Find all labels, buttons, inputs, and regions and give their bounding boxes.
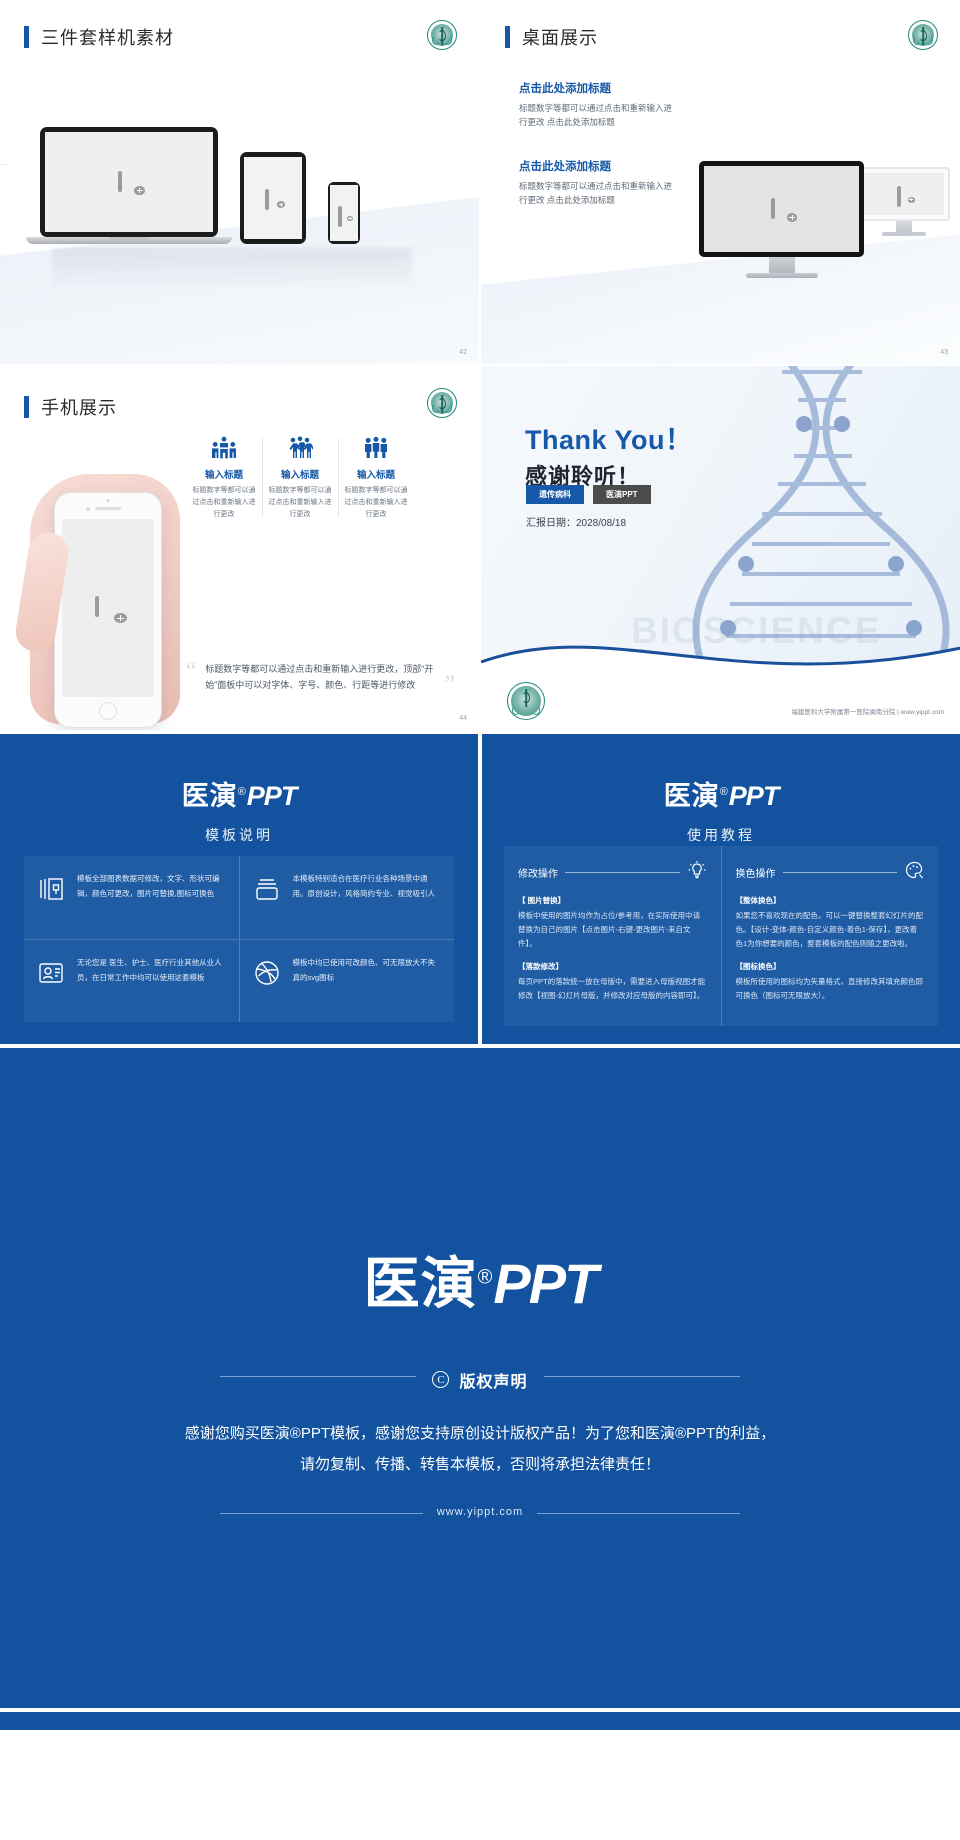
text-block-1-body: 标题数字等都可以通过点击和重新输入进行更改 点击此处添加标题 bbox=[519, 101, 679, 129]
brand-cn: 医演 bbox=[664, 781, 720, 811]
device-mockup-row bbox=[40, 127, 360, 244]
box-stack-icon bbox=[252, 872, 282, 923]
text-block-1-heading: 点击此处添加标题 bbox=[519, 80, 679, 96]
description-card-2-text: 本模板特别适合在医疗行业各种场景中通用。原创设计，风格简约专业、视觉吸引人 bbox=[293, 872, 443, 923]
tutorial-edit-text-1: 模板中使用的图片均作为占位/参考用，在实际使用中请替换为自己的图片【点击图片-右… bbox=[518, 909, 707, 951]
website-url[interactable]: www.yippt.com bbox=[423, 1506, 537, 1518]
university-crest-icon bbox=[908, 20, 938, 50]
section-subtitle: 模板说明 bbox=[0, 825, 478, 845]
header-rule bbox=[565, 872, 680, 873]
university-crest-icon bbox=[427, 388, 457, 418]
hand-holding-phone-photo bbox=[20, 454, 200, 724]
image-add-placeholder-icon bbox=[118, 173, 140, 191]
feature-1-heading: 输入标题 bbox=[191, 467, 257, 481]
feature-2-heading: 输入标题 bbox=[267, 467, 333, 481]
description-card-3-text: 无论您是 医生、护士、医疗行业其他从业人员，在日常工作中均可以使用这套模板 bbox=[77, 956, 227, 1006]
university-crest-icon bbox=[427, 20, 457, 50]
description-card-2[interactable]: 本模板特别适合在医疗行业各种场景中通用。原创设计，风格简约专业、视觉吸引人 bbox=[239, 856, 455, 939]
tag-brand[interactable]: 医演PPT bbox=[593, 485, 651, 504]
slide-44-title: 手机展示 bbox=[24, 394, 117, 420]
feature-item-1[interactable]: 输入标题 标题数字等都可以通过点击和重新输入进行更改 bbox=[186, 434, 262, 521]
slide-copyright-notice[interactable]: 医演®PPT C 版权声明 感谢您购买医演®PPT模板，感谢您支持原创设计版权产… bbox=[0, 1048, 960, 1708]
institution-footer: 福建医科大学附属第一医院闽南分院 | www.yippt.com bbox=[791, 706, 944, 716]
slide-43-title-text: 桌面展示 bbox=[522, 24, 598, 50]
description-card-4[interactable]: 模板中均已使用可改颜色、可无限放大不失真的svg图标 bbox=[239, 940, 455, 1022]
brand-header: 医演®PPT 使用教程 bbox=[482, 734, 960, 845]
card-row-1: 模板全部图表数据可修改，文字、形状可编辑，颜色可更改，图片可替换,图标可换色 本… bbox=[24, 856, 454, 939]
feature-item-2[interactable]: 输入标题 标题数字等都可以通过点击和重新输入进行更改 bbox=[262, 434, 338, 521]
copyright-paragraph: 感谢您购买医演®PPT模板，感谢您支持原创设计版权产品！为了您和医演®PPT的利… bbox=[180, 1418, 780, 1481]
image-add-placeholder-icon bbox=[265, 191, 282, 205]
tutorial-recolor-heading: 换色操作 bbox=[736, 865, 776, 880]
primary-monitor-mockup[interactable] bbox=[699, 161, 864, 278]
tutorial-edit-heading: 修改操作 bbox=[518, 865, 558, 880]
copyright-mark-icon: C bbox=[432, 1371, 449, 1388]
secondary-monitor-mockup[interactable] bbox=[858, 167, 950, 236]
text-block-2-heading: 点击此处添加标题 bbox=[519, 158, 679, 174]
description-card-4-text: 模板中均已使用可改颜色、可无限放大不失真的svg图标 bbox=[293, 956, 443, 1006]
quote-block: “ 标题数字等都可以通过点击和重新输入进行更改，顶部“开始”面板中可以对字体、字… bbox=[186, 661, 455, 694]
university-crest-icon bbox=[507, 682, 545, 720]
image-add-placeholder-icon bbox=[897, 188, 912, 200]
quote-text: 标题数字等都可以通过点击和重新输入进行更改，顶部“开始”面板中可以对字体、字号、… bbox=[205, 661, 436, 694]
id-card-icon bbox=[36, 956, 66, 1006]
description-card-1-text: 模板全部图表数据可修改，文字、形状可编辑，颜色可更改，图片可替换,图标可换色 bbox=[77, 872, 227, 923]
phone-mockup[interactable] bbox=[328, 182, 360, 244]
palette-icon bbox=[904, 860, 924, 885]
thank-you-en: Thank You！ bbox=[525, 418, 693, 457]
tutorial-edit-label-1: 【 图片替换】 bbox=[518, 895, 707, 906]
copyright-heading-group: C 版权声明 bbox=[416, 1368, 543, 1392]
feature-item-3[interactable]: 输入标题 标题数字等都可以通过点击和重新输入进行更改 bbox=[338, 434, 414, 521]
text-block-2-body: 标题数字等都可以通过点击和重新输入进行更改 点击此处添加标题 bbox=[519, 179, 679, 207]
tutorial-recolor-text-2: 模板所使用的图标均为矢量格式，直接修改其填充颜色即可换色（图标可无限放大）。 bbox=[736, 975, 925, 1003]
lightbulb-icon bbox=[687, 860, 707, 885]
quote-open-mark: “ bbox=[186, 661, 196, 694]
device-reflection bbox=[52, 248, 412, 290]
slide-row-1: 三件套样机素材 bbox=[0, 0, 960, 364]
card-row-2: 无论您是 医生、护士、医疗行业其他从业人员，在日常工作中均可以使用这套模板 模板… bbox=[24, 939, 454, 1022]
presentation-page: 三件套样机素材 bbox=[0, 0, 960, 1730]
copyright-heading: 版权声明 bbox=[459, 1368, 527, 1392]
blue-info-row: 医演®PPT 模板说明 模板全部图表数据可修改，文字、形状可编辑，颜色可更改，图… bbox=[0, 734, 960, 1044]
layers-book-icon bbox=[36, 872, 66, 923]
team-meeting-icon bbox=[191, 434, 257, 460]
dribbble-ball-icon bbox=[252, 956, 282, 1006]
tutorial-column-edit-header: 修改操作 bbox=[518, 860, 707, 885]
slide-44-page-number: 44 bbox=[459, 715, 467, 722]
brand-cn: 医演 bbox=[364, 1252, 478, 1315]
slide-template-description[interactable]: 医演®PPT 模板说明 模板全部图表数据可修改，文字、形状可编辑，颜色可更改，图… bbox=[0, 734, 478, 1044]
tutorial-edit-label-2: 【落款修改】 bbox=[518, 961, 707, 972]
slide-usage-tutorial[interactable]: 医演®PPT 使用教程 修改操作 【 图片 bbox=[482, 734, 960, 1044]
tutorial-recolor-label-1: 【整体换色】 bbox=[736, 895, 925, 906]
tutorial-recolor-text-1: 如果您不喜欢现在的配色，可以一键替换整套幻灯片的配色。【设计-变体-颜色-自定义… bbox=[736, 909, 925, 951]
title-accent-bar bbox=[24, 396, 29, 418]
tag-department[interactable]: 遗传病科 bbox=[526, 485, 584, 504]
brand-reg: ® bbox=[238, 786, 247, 798]
tutorial-column-recolor-header: 换色操作 bbox=[736, 860, 925, 885]
slide-45-thank-you[interactable]: BIOSCIENCE Thank You！ 感谢聆听！ 遗传病科 医演PPT 汇… bbox=[481, 366, 960, 730]
tutorial-column-recolor[interactable]: 换色操作 【整体换色】 如果您 bbox=[721, 846, 939, 1026]
slide-42-title: 三件套样机素材 bbox=[24, 24, 174, 50]
feature-1-body: 标题数字等都可以通过点击和重新输入进行更改 bbox=[191, 485, 257, 521]
description-card-1[interactable]: 模板全部图表数据可修改，文字、形状可编辑，颜色可更改，图片可替换,图标可换色 bbox=[24, 856, 239, 939]
title-accent-bar bbox=[24, 26, 29, 48]
image-add-placeholder-icon bbox=[771, 200, 793, 218]
tutorial-column-edit[interactable]: 修改操作 【 图片替换】 模板中使用的图片均作为占位/参考用，在实际使用中请替换… bbox=[504, 846, 721, 1026]
tutorial-recolor-label-2: 【图标换色】 bbox=[736, 961, 925, 972]
people-group-icon bbox=[267, 434, 333, 460]
slide-42-page-number: 42 bbox=[459, 349, 467, 356]
slide-42-three-device-mockups[interactable]: 三件套样机素材 bbox=[0, 0, 479, 364]
brand-logo: 医演®PPT bbox=[482, 774, 960, 813]
tutorial-columns: 修改操作 【 图片替换】 模板中使用的图片均作为占位/参考用，在实际使用中请替换… bbox=[504, 846, 938, 1026]
image-add-placeholder-icon bbox=[95, 598, 121, 619]
laptop-mockup[interactable] bbox=[40, 127, 218, 244]
report-date: 汇报日期：2028/08/18 bbox=[526, 514, 626, 529]
brand-reg: ® bbox=[478, 1266, 494, 1288]
slide-43-title: 桌面展示 bbox=[505, 24, 598, 50]
feature-2-body: 标题数字等都可以通过点击和重新输入进行更改 bbox=[267, 485, 333, 521]
feature-3-heading: 输入标题 bbox=[343, 467, 409, 481]
brand-logo-large: 医演®PPT bbox=[364, 1239, 597, 1320]
description-card-grid: 模板全部图表数据可修改，文字、形状可编辑，颜色可更改，图片可替换,图标可换色 本… bbox=[24, 856, 454, 1022]
bottom-spacer bbox=[0, 1712, 960, 1730]
slide-43-page-number: 43 bbox=[940, 349, 948, 356]
section-subtitle: 使用教程 bbox=[482, 825, 960, 845]
tablet-mockup[interactable] bbox=[240, 152, 306, 244]
title-accent-bar bbox=[505, 26, 510, 48]
slide-43-desktop-display[interactable]: 桌面展示 点击此处添加标题 标题数字等都可以通过点击和重新输入进行更改 点击此处… bbox=[481, 0, 960, 364]
slide-44-title-text: 手机展示 bbox=[41, 394, 117, 420]
feature-row: 输入标题 标题数字等都可以通过点击和重新输入进行更改 bbox=[186, 434, 414, 521]
brand-cn: 医演 bbox=[182, 781, 238, 811]
brand-ppt: PPT bbox=[247, 781, 297, 811]
slide-row-2: 手机展示 bbox=[0, 366, 960, 730]
feature-3-body: 标题数字等都可以通过点击和重新输入进行更改 bbox=[343, 485, 409, 521]
brand-ppt: PPT bbox=[729, 781, 779, 811]
brand-reg: ® bbox=[720, 786, 729, 798]
brand-logo: 医演®PPT bbox=[0, 774, 478, 813]
header-rule bbox=[783, 872, 898, 873]
text-block-1: 点击此处添加标题 标题数字等都可以通过点击和重新输入进行更改 点击此处添加标题 bbox=[519, 80, 679, 129]
brand-header: 医演®PPT 模板说明 bbox=[0, 734, 478, 845]
slide-44-mobile-display[interactable]: 手机展示 bbox=[0, 366, 479, 730]
text-block-2: 点击此处添加标题 标题数字等都可以通过点击和重新输入进行更改 点击此处添加标题 bbox=[519, 158, 679, 207]
description-card-3[interactable]: 无论您是 医生、护士、医疗行业其他从业人员，在日常工作中均可以使用这套模板 bbox=[24, 940, 239, 1022]
quote-close-mark: ” bbox=[445, 674, 455, 694]
phone-mockup[interactable] bbox=[54, 492, 162, 728]
brand-ppt: PPT bbox=[493, 1252, 596, 1315]
slide-42-title-text: 三件套样机素材 bbox=[41, 24, 174, 50]
thank-you-tags: 遗传病科 医演PPT bbox=[526, 485, 651, 504]
thank-you-heading: Thank You！ 感谢聆听！ bbox=[525, 418, 693, 491]
three-persons-icon bbox=[343, 434, 409, 460]
image-add-placeholder-icon bbox=[338, 208, 351, 219]
tutorial-edit-text-2: 每页PPT的落款统一放在母版中，需要进入母版视图才能修改【视图-幻灯片母版，并修… bbox=[518, 975, 707, 1003]
